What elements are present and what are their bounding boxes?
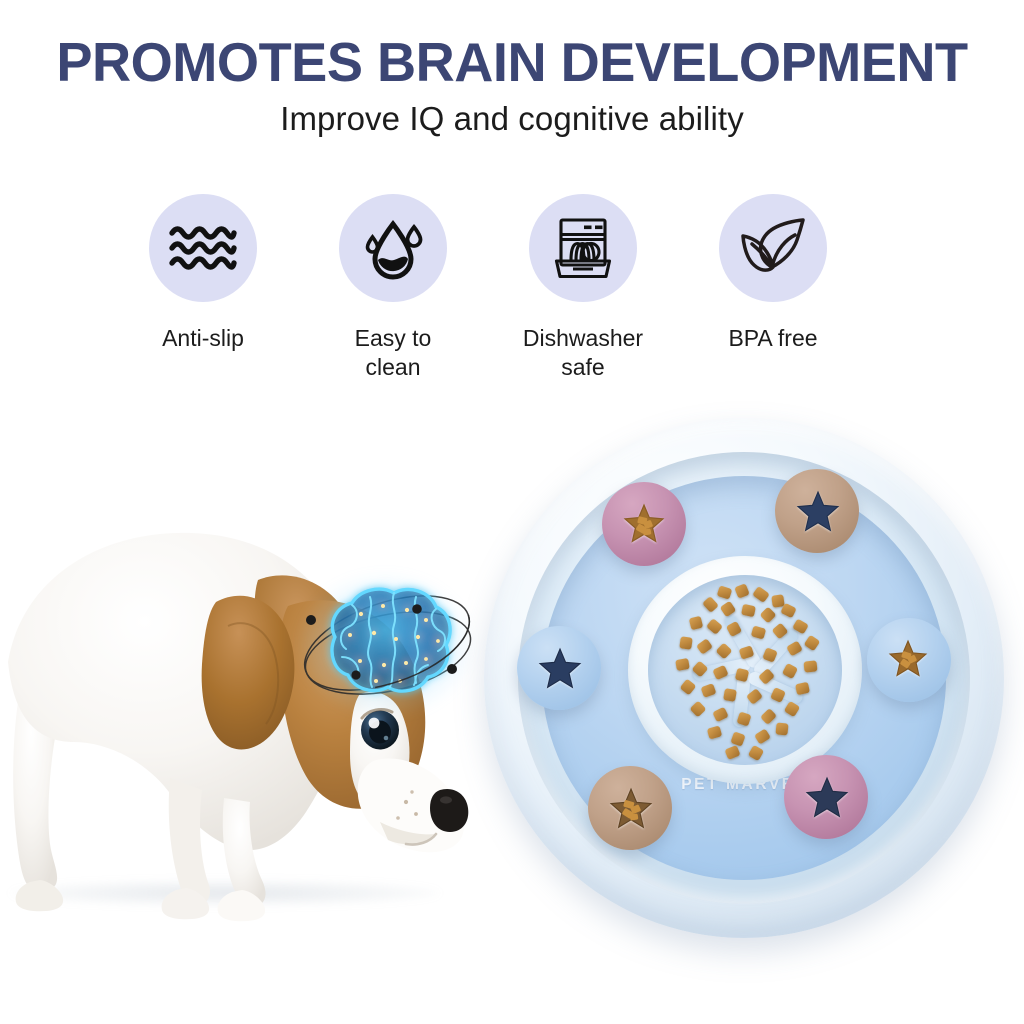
- waves-icon: [149, 194, 257, 302]
- puzzle-knob-left[interactable]: [517, 626, 601, 710]
- puzzle-knob-top-right[interactable]: [775, 469, 859, 553]
- kibble: [717, 585, 733, 599]
- feature-label: Easy to clean: [318, 324, 468, 383]
- kibble: [689, 616, 704, 631]
- star-cutout-filled: [623, 503, 665, 545]
- center-bowl-well: [648, 575, 842, 765]
- kibble: [780, 603, 797, 619]
- feature-label: Dishwasher safe: [508, 324, 658, 383]
- kibble: [782, 663, 798, 679]
- kibble: [680, 679, 697, 696]
- kibble: [795, 682, 810, 695]
- puzzle-knob-bottom-left[interactable]: [588, 766, 672, 850]
- kibble: [754, 728, 771, 744]
- kibble: [748, 745, 764, 761]
- kibble: [702, 596, 719, 613]
- infographic-page: PROMOTES BRAIN DEVELOPMENT Improve IQ an…: [0, 0, 1024, 1024]
- puzzle-knob-bottom-right[interactable]: [784, 755, 868, 839]
- kibble: [701, 683, 717, 698]
- kibble: [741, 604, 756, 617]
- star-cutout-filled: [888, 639, 930, 681]
- feature-item-anti-slip: Anti-slip: [148, 194, 258, 383]
- kibble: [734, 583, 750, 599]
- puzzle-knob-top-left[interactable]: [602, 482, 686, 566]
- star-cutout-empty: [796, 490, 838, 532]
- kibble: [675, 658, 690, 671]
- kibble: [760, 607, 777, 624]
- kibble: [804, 635, 821, 652]
- feature-label: BPA free: [698, 324, 848, 353]
- feature-item-bpa-free: BPA free: [718, 194, 828, 383]
- kibble: [706, 618, 723, 635]
- center-food-bowl: [628, 556, 862, 784]
- kibble: [690, 701, 707, 718]
- feature-list: Anti-slip Easy to clean: [148, 194, 888, 383]
- dishwasher-icon: [529, 194, 637, 302]
- star-cutout-filled: [609, 787, 651, 829]
- page-subtitle: Improve IQ and cognitive ability: [0, 100, 1024, 138]
- puzzle-knob-right[interactable]: [867, 618, 951, 702]
- kibble: [803, 660, 817, 672]
- brain-overlay-icon: [290, 565, 485, 740]
- kibble: [752, 586, 770, 603]
- leaves-icon: [719, 194, 827, 302]
- water-drop-icon: [339, 194, 447, 302]
- feature-item-dishwasher-safe: Dishwasher safe: [528, 194, 638, 383]
- kibble: [716, 643, 733, 660]
- kibble: [775, 722, 788, 735]
- kibble: [723, 688, 737, 702]
- feature-label: Anti-slip: [128, 324, 278, 353]
- star-cutout-empty: [538, 647, 580, 689]
- kibble: [730, 731, 745, 746]
- kibble: [712, 707, 729, 723]
- kibble: [679, 636, 693, 650]
- kibble: [760, 708, 777, 725]
- kibble: [724, 745, 740, 760]
- product-slow-feeder-bowl: PET MARVEL: [484, 418, 1004, 938]
- star-cutout-empty: [805, 776, 847, 818]
- feature-item-easy-to-clean: Easy to clean: [338, 194, 448, 383]
- page-title: PROMOTES BRAIN DEVELOPMENT: [8, 30, 1017, 94]
- kibble: [751, 625, 767, 639]
- kibble: [696, 638, 713, 655]
- kibble: [707, 725, 723, 739]
